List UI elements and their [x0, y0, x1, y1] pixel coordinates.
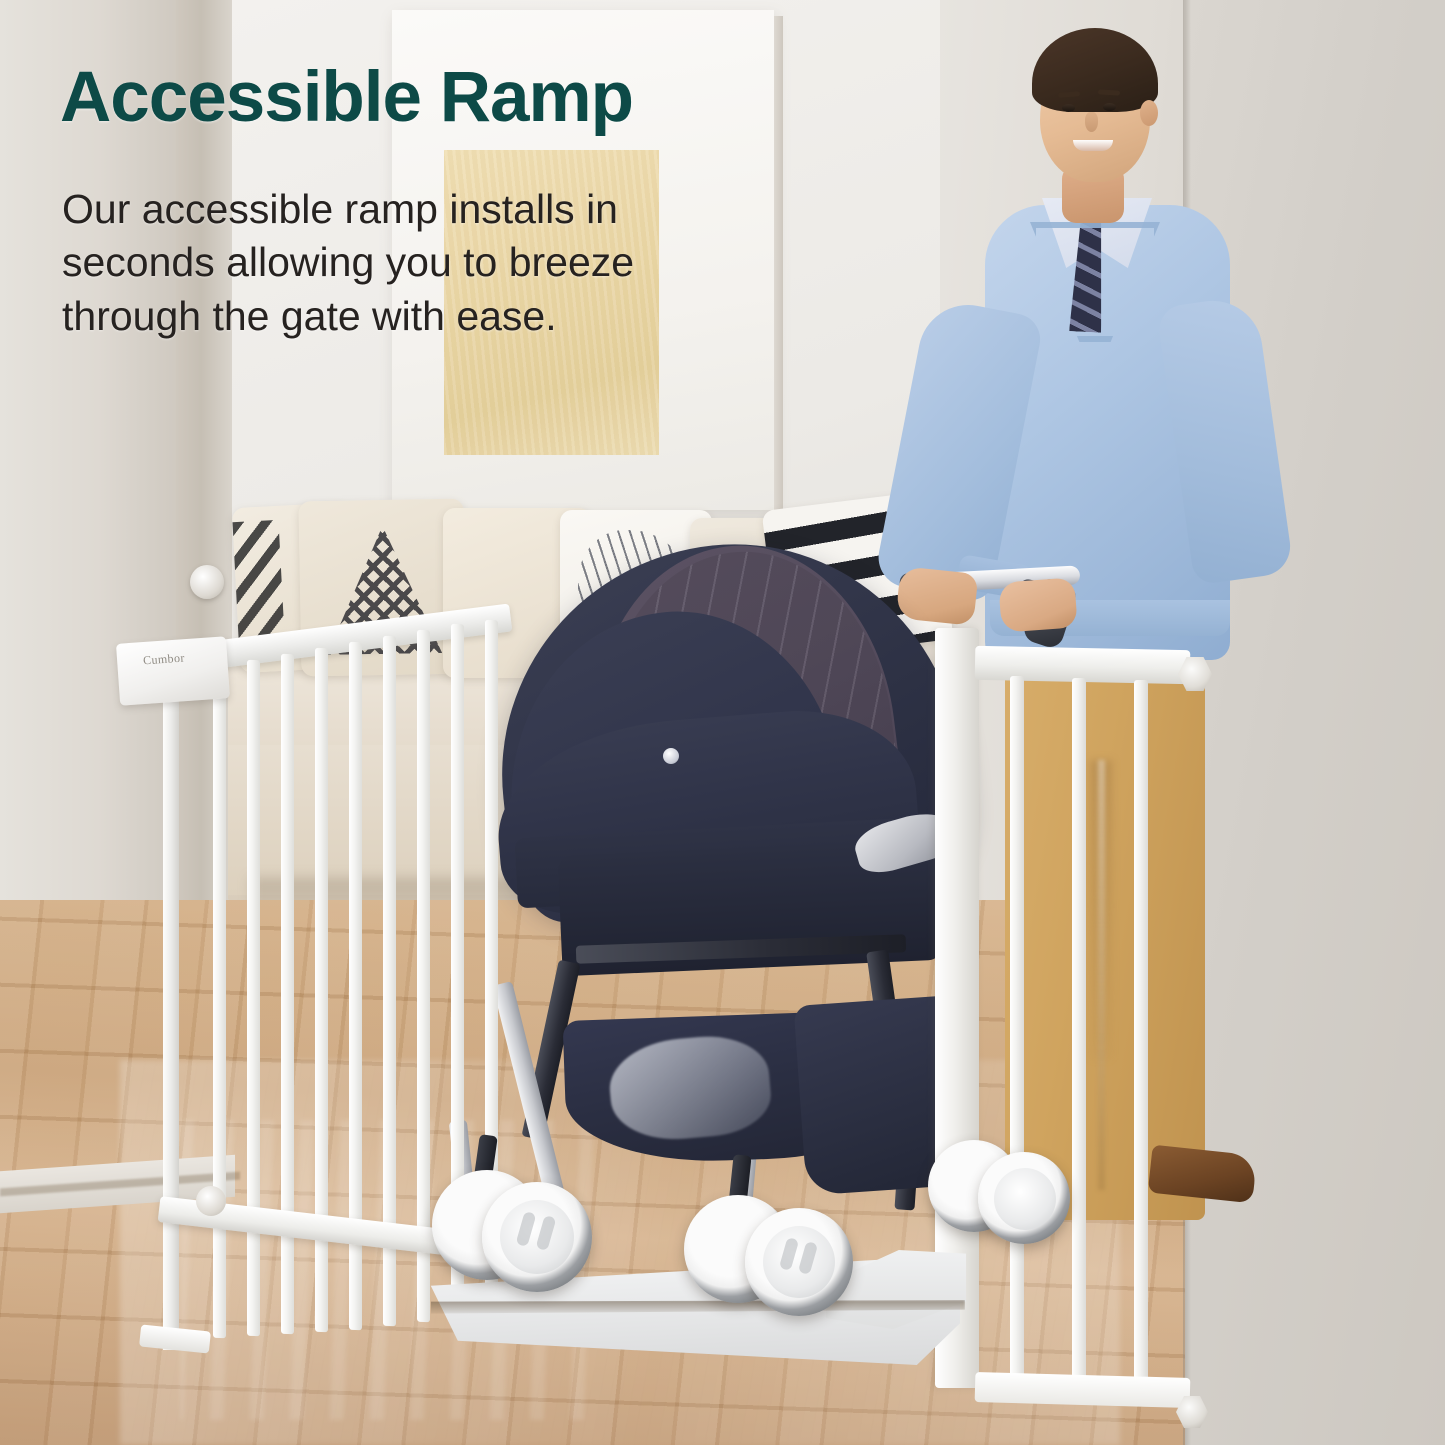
- gate-left-post: [163, 660, 179, 1350]
- wheel-hub: [763, 1226, 835, 1298]
- gate-bar: [1010, 676, 1024, 1382]
- page-subcopy: Our accessible ramp installs in seconds …: [62, 183, 852, 343]
- man-ear: [1140, 100, 1158, 126]
- subcopy-line-2: seconds allowing you to breeze: [62, 236, 852, 289]
- gate-bottom-hinge: [196, 1186, 226, 1216]
- wheel-hub: [994, 1168, 1056, 1230]
- man-eye-right: [1103, 103, 1116, 111]
- gate-bar: [247, 660, 260, 1337]
- man-smile: [1073, 140, 1113, 151]
- gate-bar: [1134, 680, 1148, 1388]
- gate-top-hinge: [190, 565, 224, 599]
- man-nose: [1085, 112, 1098, 132]
- gate-bar: [213, 666, 226, 1339]
- man-hand-right: [998, 577, 1077, 632]
- gate-logo-plate: [116, 636, 230, 706]
- right-wall: [1185, 0, 1445, 1445]
- subcopy-line-3: through the gate with ease.: [62, 290, 852, 343]
- trouser-crease: [1098, 760, 1105, 1190]
- man-eyebrow-right: [1098, 89, 1120, 95]
- subcopy-line-1: Our accessible ramp installs in: [62, 183, 852, 236]
- canopy-snap-button: [663, 748, 679, 764]
- man-hand-left: [895, 566, 978, 626]
- wheel-hub: [500, 1200, 574, 1274]
- man-eye-left: [1062, 104, 1075, 112]
- page-headline: Accessible Ramp: [60, 62, 633, 134]
- gate-bar: [417, 630, 430, 1323]
- product-marketing-image: Cumbor Accessible Ramp Our accessible ra…: [0, 0, 1445, 1445]
- gate-right-bottom-rail: [975, 1372, 1191, 1408]
- gate-bar: [1072, 678, 1086, 1384]
